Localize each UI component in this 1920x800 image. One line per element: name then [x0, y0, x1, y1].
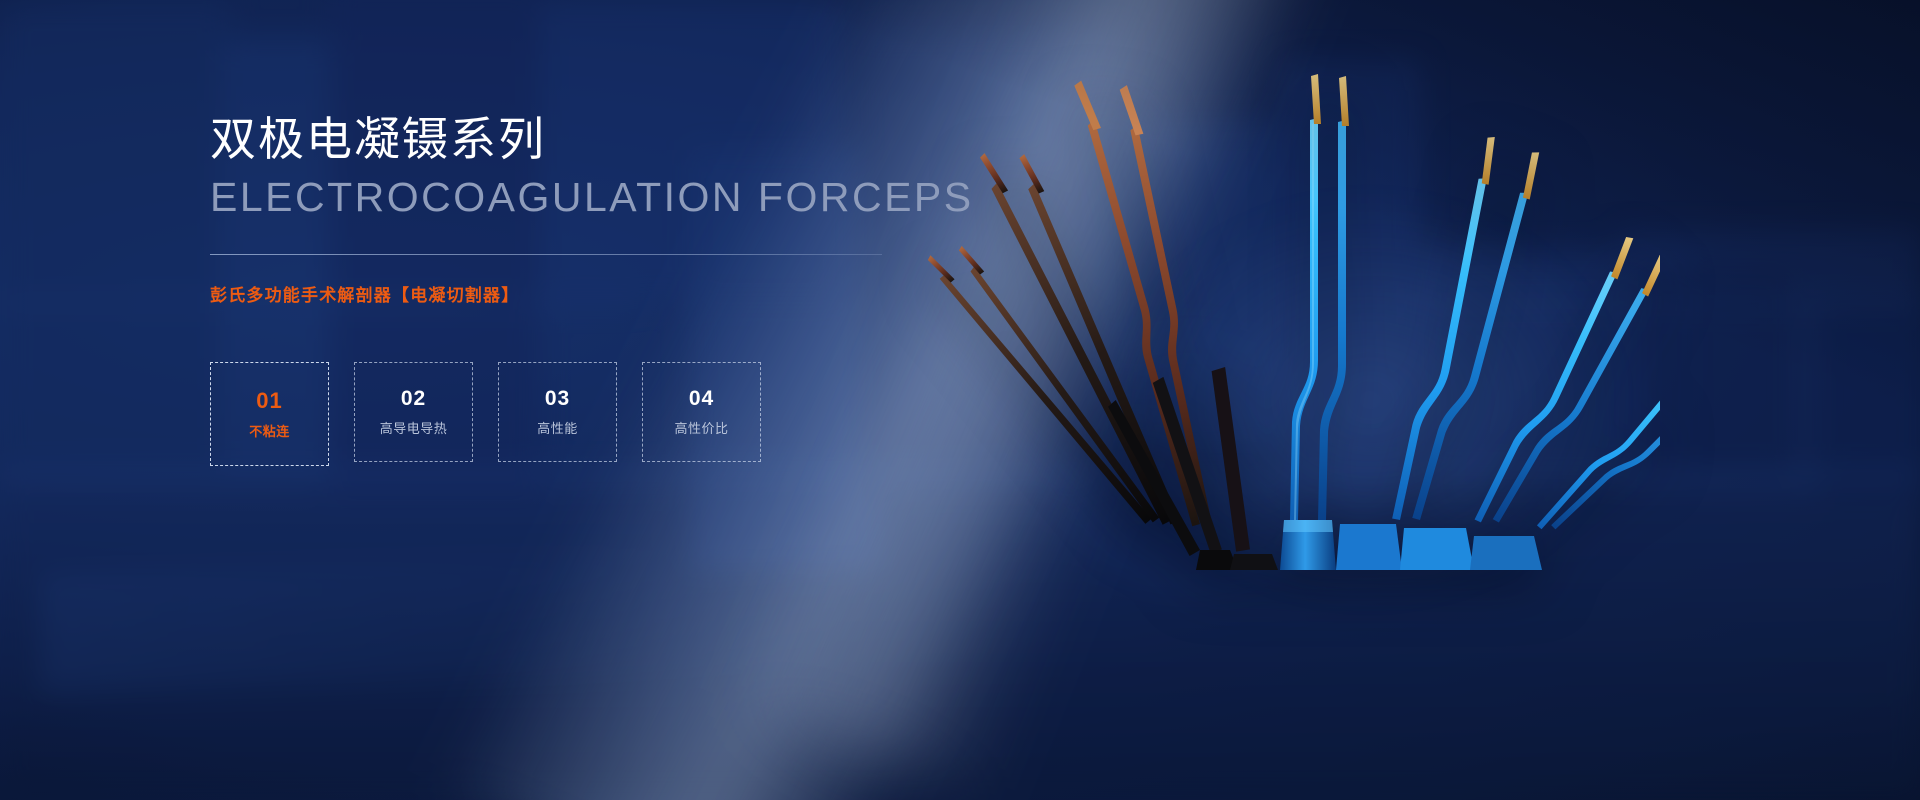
feature-item-02[interactable]: 02 高导电导热	[354, 362, 473, 462]
page-subtitle-english: ELECTROCOAGULATION FORCEPS	[210, 173, 1110, 221]
feature-list: 01 不粘连 02 高导电导热 03 高性能 04 高性价比	[210, 362, 1110, 466]
divider	[210, 254, 882, 255]
page-title: 双极电凝镊系列	[210, 112, 1110, 167]
product-tagline: 彭氏多功能手术解剖器【电凝切割器】	[210, 281, 1110, 306]
forceps-blue-group	[1280, 74, 1660, 570]
feature-label: 高性能	[537, 422, 578, 435]
feature-number: 02	[401, 388, 426, 409]
feature-number: 03	[545, 388, 570, 409]
feature-number: 04	[689, 388, 714, 409]
feature-label: 不粘连	[249, 425, 290, 438]
feature-label: 高导电导热	[380, 422, 448, 435]
feature-number: 01	[256, 390, 282, 412]
feature-item-01[interactable]: 01 不粘连	[210, 362, 329, 466]
feature-item-04[interactable]: 04 高性价比	[642, 362, 761, 462]
banner-content: 双极电凝镊系列 ELECTROCOAGULATION FORCEPS 彭氏多功能…	[210, 112, 1110, 466]
feature-item-03[interactable]: 03 高性能	[498, 362, 617, 462]
feature-label: 高性价比	[674, 422, 728, 435]
product-banner: 双极电凝镊系列 ELECTROCOAGULATION FORCEPS 彭氏多功能…	[0, 0, 1920, 800]
